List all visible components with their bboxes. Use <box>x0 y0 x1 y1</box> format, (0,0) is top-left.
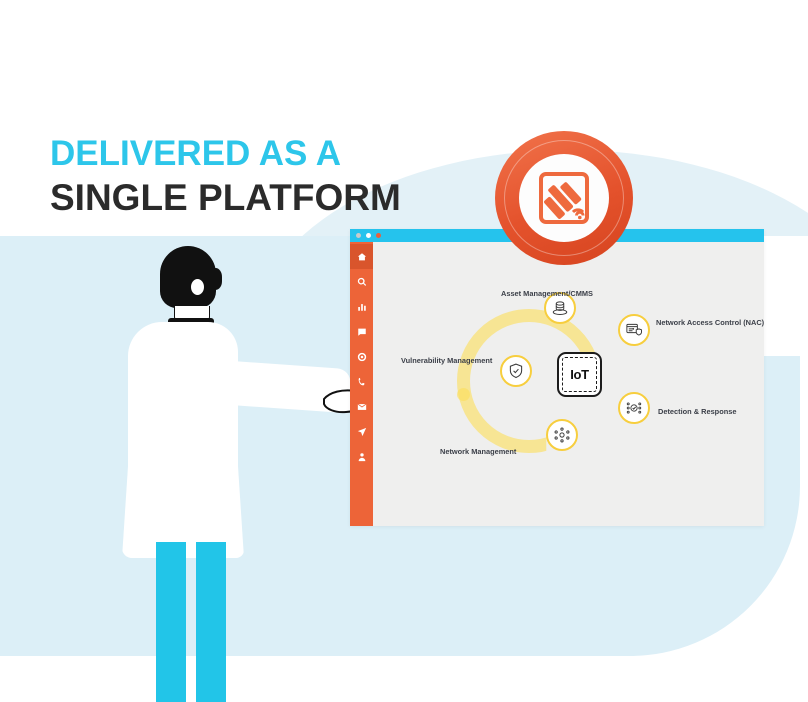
sidebar-item-analytics[interactable] <box>350 294 373 319</box>
sidebar-item-targets[interactable] <box>350 344 373 369</box>
person-leg-left <box>156 542 186 702</box>
person-illustration <box>128 246 358 656</box>
home-icon <box>357 252 367 262</box>
illustration-stage: DELIVERED AS A SINGLE PLATFORM <box>0 0 808 656</box>
database-icon <box>551 299 569 317</box>
bar-chart-icon <box>357 302 367 312</box>
user-icon <box>357 452 367 462</box>
network-hub-icon <box>553 426 571 444</box>
diagram-label-asset: Asset Management/CMMS <box>501 289 593 298</box>
page-title: DELIVERED AS A SINGLE PLATFORM <box>50 136 401 216</box>
phone-icon <box>357 377 367 387</box>
diagram-label-detection: Detection & Response <box>658 407 736 416</box>
diagram-node-vulnerability[interactable] <box>500 355 532 387</box>
window-dot-maximize[interactable] <box>366 233 371 238</box>
sidebar-item-home[interactable] <box>350 244 373 269</box>
sidebar-item-calls[interactable] <box>350 369 373 394</box>
iot-chip-label: IoT <box>570 367 589 382</box>
diagram-node-nac[interactable] <box>618 314 650 346</box>
window-dot-close[interactable] <box>376 233 381 238</box>
sidebar-item-messages[interactable] <box>350 319 373 344</box>
person-ear <box>190 278 205 296</box>
diagram-node-network[interactable] <box>546 419 578 451</box>
window-body: IoT <box>350 242 764 526</box>
sidebar-item-send[interactable] <box>350 419 373 444</box>
sidebar-item-profile[interactable] <box>350 444 373 469</box>
diagram-canvas: IoT <box>373 242 764 526</box>
diagram-node-detection[interactable] <box>618 392 650 424</box>
sidebar-item-search[interactable] <box>350 269 373 294</box>
title-line-2: SINGLE PLATFORM <box>50 179 401 216</box>
shield-check-icon <box>507 362 525 380</box>
person-leg-right <box>196 542 226 702</box>
brand-mark-icon <box>533 167 595 229</box>
person-hair <box>160 246 216 308</box>
iot-chip-inner: IoT <box>562 357 597 392</box>
app-sidebar <box>350 242 373 526</box>
browser-window: IoT <box>350 229 764 526</box>
search-icon <box>357 277 367 287</box>
window-dot-minimize[interactable] <box>356 233 361 238</box>
diagram-ring-cap-start <box>457 388 470 401</box>
sidebar-item-mail[interactable] <box>350 394 373 419</box>
mail-icon <box>357 402 367 412</box>
diagram-label-nac: Network Access Control (NAC) <box>656 318 764 327</box>
platform-logo-badge <box>495 131 633 265</box>
chat-bubble-icon <box>357 327 367 337</box>
iot-chip: IoT <box>557 352 602 397</box>
target-icon <box>357 352 367 362</box>
detection-nodes-icon <box>625 399 643 417</box>
send-icon <box>357 427 367 437</box>
title-line-1: DELIVERED AS A <box>50 136 401 171</box>
diagram-label-network: Network Management <box>440 447 516 456</box>
access-control-icon <box>625 321 643 339</box>
diagram-label-vulnerability: Vulnerability Management <box>401 356 492 365</box>
